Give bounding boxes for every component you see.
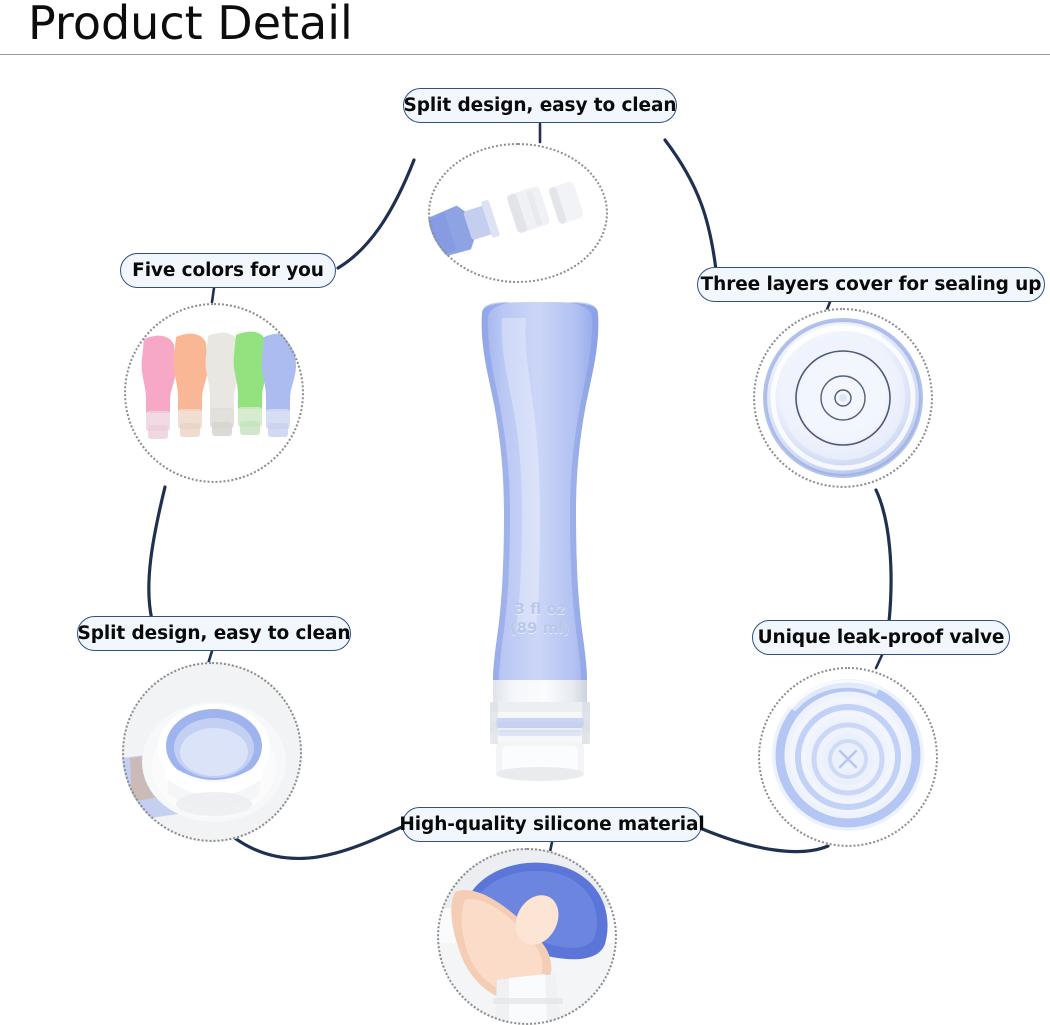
photo-leak-proof-valve <box>758 667 938 847</box>
photo-silicone-material <box>437 848 617 1025</box>
photo-five-colors <box>124 303 304 483</box>
feature-label-valve[interactable]: Unique leak-proof valve <box>752 620 1010 655</box>
product-bottle-image: 3 fl oz (89 ml) <box>440 300 640 800</box>
photo-split-design-open-neck <box>122 662 302 842</box>
feature-label-three-layers[interactable]: Three layers cover for sealing up <box>697 267 1045 302</box>
photo-three-layers-cover <box>753 308 933 488</box>
photo-top-split-design <box>428 143 608 283</box>
feature-label-split-left[interactable]: Split design, easy to clean <box>77 616 351 651</box>
feature-label-silicone[interactable]: High-quality silicone material <box>402 807 702 842</box>
feature-label-top-split[interactable]: Split design, easy to clean <box>403 88 677 123</box>
feature-label-five-colors[interactable]: Five colors for you <box>120 253 336 288</box>
